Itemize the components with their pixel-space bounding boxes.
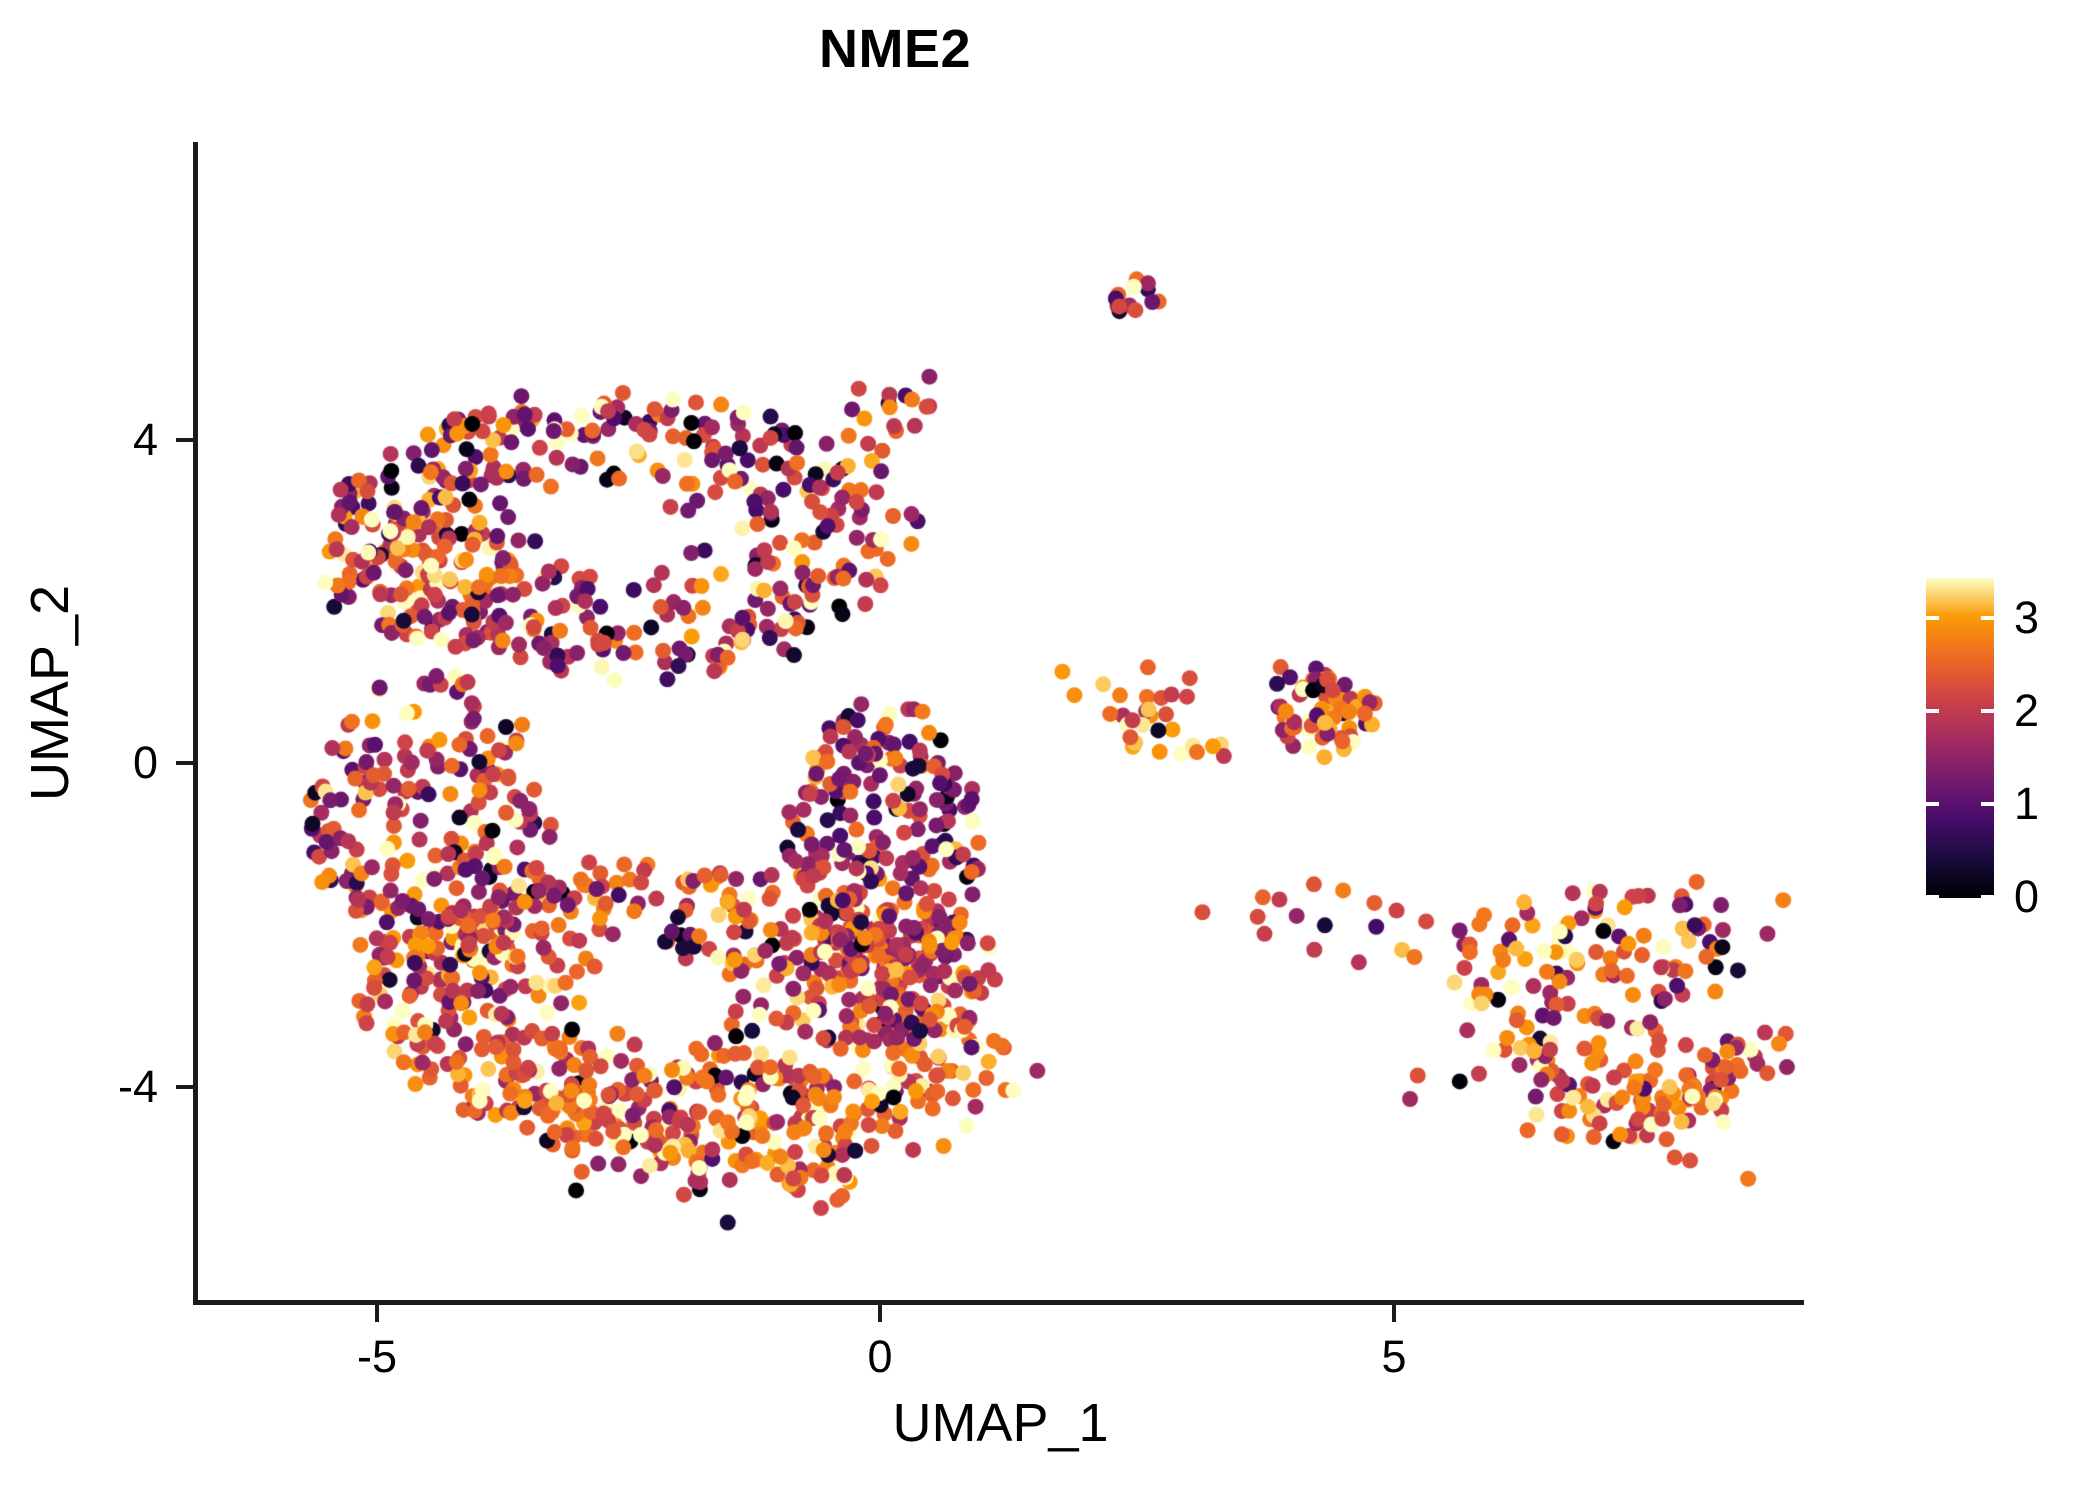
colorbar-gradient (1926, 578, 1994, 898)
colorbar-tick-1-left (1926, 802, 1939, 806)
x-tick-label-0: 0 (867, 1331, 892, 1383)
umap-feature-plot: NME2 4 0 -4 -5 0 5 UMAP_1 UMAP_2 3 2 1 0 (0, 0, 2100, 1500)
page-title: NME2 (0, 22, 1790, 76)
y-tick-mark--4 (176, 1085, 193, 1089)
colorbar-label-3: 3 (2014, 592, 2039, 644)
colorbar-label-1: 1 (2014, 778, 2039, 830)
x-axis-title: UMAP_1 (197, 1392, 1804, 1454)
x-tick-mark-5 (1392, 1305, 1396, 1322)
x-tick-label-5: 5 (1381, 1331, 1406, 1383)
y-axis-title: UMAP_2 (19, 113, 81, 1273)
x-tick-mark-0 (878, 1305, 882, 1322)
colorbar-label-2: 2 (2014, 685, 2039, 737)
scatter-points-layer (197, 142, 1804, 1302)
y-axis-line (193, 142, 198, 1305)
colorbar-tick-2-right (1981, 709, 1994, 713)
plot-panel (197, 142, 1804, 1302)
x-axis-line (193, 1300, 1804, 1305)
colorbar-tick-1-right (1981, 802, 1994, 806)
colorbar-tick-2-left (1926, 709, 1939, 713)
y-tick-mark-0 (176, 761, 193, 765)
colorbar-tick-3-left (1926, 616, 1939, 620)
x-tick-mark--5 (375, 1305, 379, 1322)
colorbar-tick-0-right (1981, 895, 1994, 899)
colorbar-label-0: 0 (2014, 871, 2039, 923)
colorbar-tick-3-right (1981, 616, 1994, 620)
colorbar-tick-0-left (1926, 895, 1939, 899)
x-tick-label--5: -5 (357, 1331, 397, 1383)
y-tick-mark-4 (176, 438, 193, 442)
